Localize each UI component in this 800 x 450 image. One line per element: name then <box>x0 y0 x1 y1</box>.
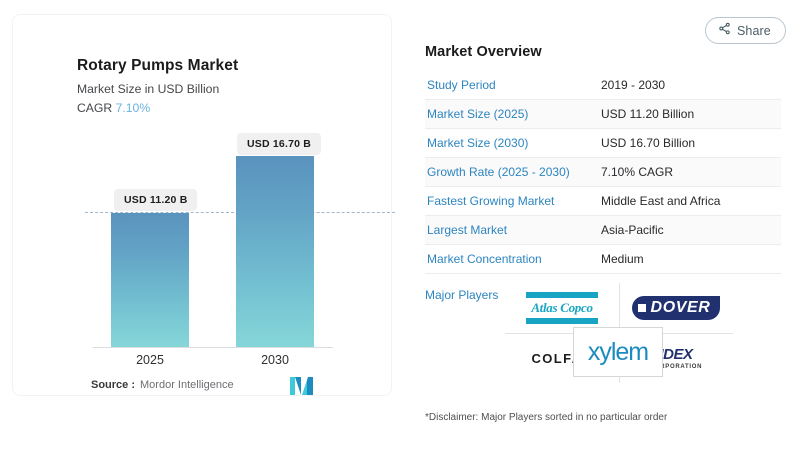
table-row: Growth Rate (2025 - 2030) 7.10% CAGR <box>425 158 781 187</box>
player-logo-atlas-copco: Atlas Copco <box>505 283 619 333</box>
source-label: Source : <box>91 379 135 391</box>
row-key: Study Period <box>425 71 599 100</box>
row-key: Fastest Growing Market <box>425 187 599 216</box>
row-key: Market Concentration <box>425 245 599 274</box>
mordor-intelligence-logo-icon <box>290 377 314 400</box>
chart-card: Rotary Pumps Market Market Size in USD B… <box>12 14 392 396</box>
table-row: Market Size (2030) USD 16.70 Billion <box>425 129 781 158</box>
bar-value-label-2025: USD 11.20 B <box>114 189 197 211</box>
table-row: Study Period 2019 - 2030 <box>425 71 781 100</box>
row-key: Largest Market <box>425 216 599 245</box>
bar-2030[interactable] <box>236 156 314 347</box>
table-row: Market Size (2025) USD 11.20 Billion <box>425 100 781 129</box>
disclaimer-text: *Disclaimer: Major Players sorted in no … <box>425 412 667 423</box>
xylem-wordmark: xylem <box>588 340 648 365</box>
row-key: Market Size (2030) <box>425 129 599 158</box>
overview-table: Study Period 2019 - 2030 Market Size (20… <box>425 71 781 274</box>
atlas-copco-bar-icon <box>526 292 598 298</box>
dover-mark-icon <box>638 304 646 312</box>
source-row: Source : Mordor Intelligence <box>91 379 234 391</box>
atlas-copco-bar-icon <box>526 318 598 324</box>
row-key: Market Size (2025) <box>425 100 599 129</box>
row-value: USD 16.70 Billion <box>599 129 781 158</box>
source-value: Mordor Intelligence <box>140 379 234 391</box>
share-icon <box>718 22 731 40</box>
panel-title: Market Overview <box>425 44 787 60</box>
x-axis-label-2025: 2025 <box>111 353 189 367</box>
atlas-copco-wordmark: Atlas Copco <box>531 300 592 316</box>
player-logo-xylem: xylem <box>573 327 663 377</box>
row-key: Growth Rate (2025 - 2030) <box>425 158 599 187</box>
x-axis-label-2030: 2030 <box>236 353 314 367</box>
row-value: USD 11.20 Billion <box>599 100 781 129</box>
table-row: Fastest Growing Market Middle East and A… <box>425 187 781 216</box>
axis-baseline <box>93 347 333 348</box>
dover-wordmark: DOVER <box>651 299 711 317</box>
row-value: 7.10% CAGR <box>599 158 781 187</box>
row-value: Middle East and Africa <box>599 187 781 216</box>
row-value: 2019 - 2030 <box>599 71 781 100</box>
player-logo-dover: DOVER <box>619 283 733 333</box>
bar-2025[interactable] <box>111 213 189 347</box>
row-value: Medium <box>599 245 781 274</box>
bar-value-label-2030: USD 16.70 B <box>237 133 321 155</box>
table-row: Market Concentration Medium <box>425 245 781 274</box>
report-snapshot: Share Rotary Pumps Market Market Size in… <box>0 0 800 450</box>
share-button[interactable]: Share <box>705 17 786 44</box>
row-value: Asia-Pacific <box>599 216 781 245</box>
share-label: Share <box>737 24 771 38</box>
bar-chart-plot: USD 11.20 B USD 16.70 B 2025 2030 <box>13 15 393 397</box>
idex-wordmark: IDEX <box>659 347 692 362</box>
market-overview-panel: Market Overview Study Period 2019 - 2030… <box>425 44 787 302</box>
table-row: Largest Market Asia-Pacific <box>425 216 781 245</box>
